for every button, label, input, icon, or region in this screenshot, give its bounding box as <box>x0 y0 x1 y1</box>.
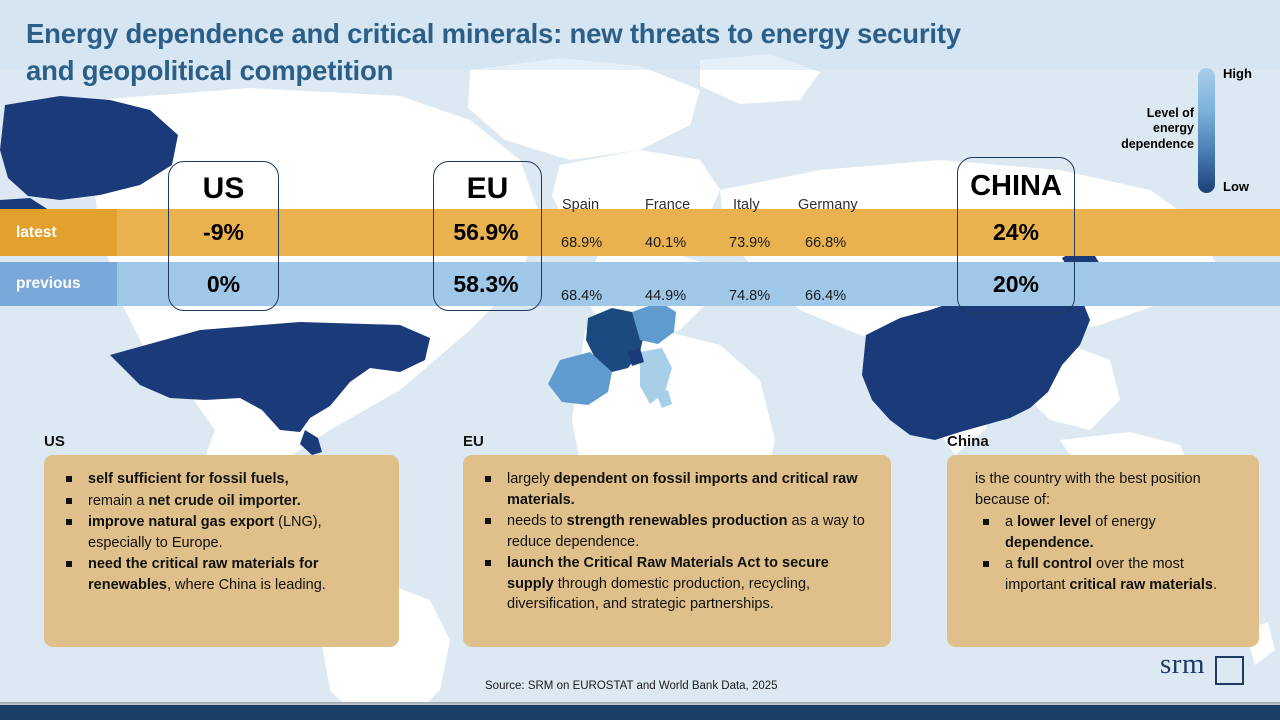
value-china-previous: 20% <box>957 271 1075 298</box>
page-title: Energy dependence and critical minerals:… <box>26 16 1166 89</box>
card-us: self sufficient for fossil fuels, remain… <box>44 455 399 647</box>
list-item: improve natural gas export (LNG), especi… <box>58 512 383 553</box>
value-spain-previous: 68.4% <box>561 288 602 304</box>
value-italy-previous: 74.8% <box>729 288 770 304</box>
card-title-us: US <box>44 433 65 450</box>
value-germany-latest: 66.8% <box>805 235 846 251</box>
legend-high-label: High <box>1223 66 1252 81</box>
value-eu-previous: 58.3% <box>430 271 542 298</box>
logo-square-icon <box>1215 656 1244 685</box>
row-label-previous: previous <box>0 262 117 306</box>
list-item: largely dependent on fossil imports and … <box>477 469 875 510</box>
legend-caption: Level of energy dependence <box>1114 106 1194 152</box>
legend-gradient-bar <box>1198 68 1215 193</box>
srm-logo: srm <box>1160 648 1260 686</box>
value-germany-previous: 66.4% <box>805 288 846 304</box>
bullet-list-eu: largely dependent on fossil imports and … <box>477 469 875 615</box>
value-france-latest: 40.1% <box>645 235 686 251</box>
list-item: a lower level of energy dependence. <box>975 512 1243 553</box>
source-note: Source: SRM on EUROSTAT and World Bank D… <box>485 680 778 692</box>
value-china-latest: 24% <box>957 219 1075 246</box>
value-eu-latest: 56.9% <box>430 219 542 246</box>
region-name-us: US <box>168 172 279 206</box>
card-title-china: China <box>947 433 989 450</box>
value-spain-latest: 68.9% <box>561 235 602 251</box>
slide-root: Energy dependence and critical minerals:… <box>0 0 1280 720</box>
value-us-latest: -9% <box>168 219 279 246</box>
legend: High Low Level of energy dependence <box>1120 60 1280 210</box>
value-france-previous: 44.9% <box>645 288 686 304</box>
country-header-spain: Spain <box>562 197 599 213</box>
country-header-france: France <box>645 197 690 213</box>
value-italy-latest: 73.9% <box>729 235 770 251</box>
list-item: needs to strength renewables production … <box>477 511 875 552</box>
region-name-china: CHINA <box>952 170 1080 203</box>
list-item: self sufficient for fossil fuels, <box>58 469 383 490</box>
list-item: launch the Critical Raw Materials Act to… <box>477 553 875 615</box>
value-us-previous: 0% <box>168 271 279 298</box>
country-header-germany: Germany <box>798 197 858 213</box>
card-china: is the country with the best position be… <box>947 455 1259 647</box>
card-intro-china: is the country with the best position be… <box>975 469 1243 510</box>
legend-low-label: Low <box>1223 179 1249 194</box>
card-title-eu: EU <box>463 433 484 450</box>
logo-wordmark: srm <box>1160 648 1205 681</box>
footer-bar <box>0 705 1280 720</box>
row-label-latest: latest <box>0 209 117 256</box>
list-item: need the critical raw materials for rene… <box>58 554 383 595</box>
bullet-list-china: a lower level of energy dependence. a fu… <box>975 512 1243 595</box>
country-header-italy: Italy <box>733 197 760 213</box>
list-item: a full control over the most important c… <box>975 554 1243 595</box>
bullet-list-us: self sufficient for fossil fuels, remain… <box>58 469 383 595</box>
card-eu: largely dependent on fossil imports and … <box>463 455 891 647</box>
region-name-eu: EU <box>433 172 542 206</box>
list-item: remain a net crude oil importer. <box>58 491 383 512</box>
